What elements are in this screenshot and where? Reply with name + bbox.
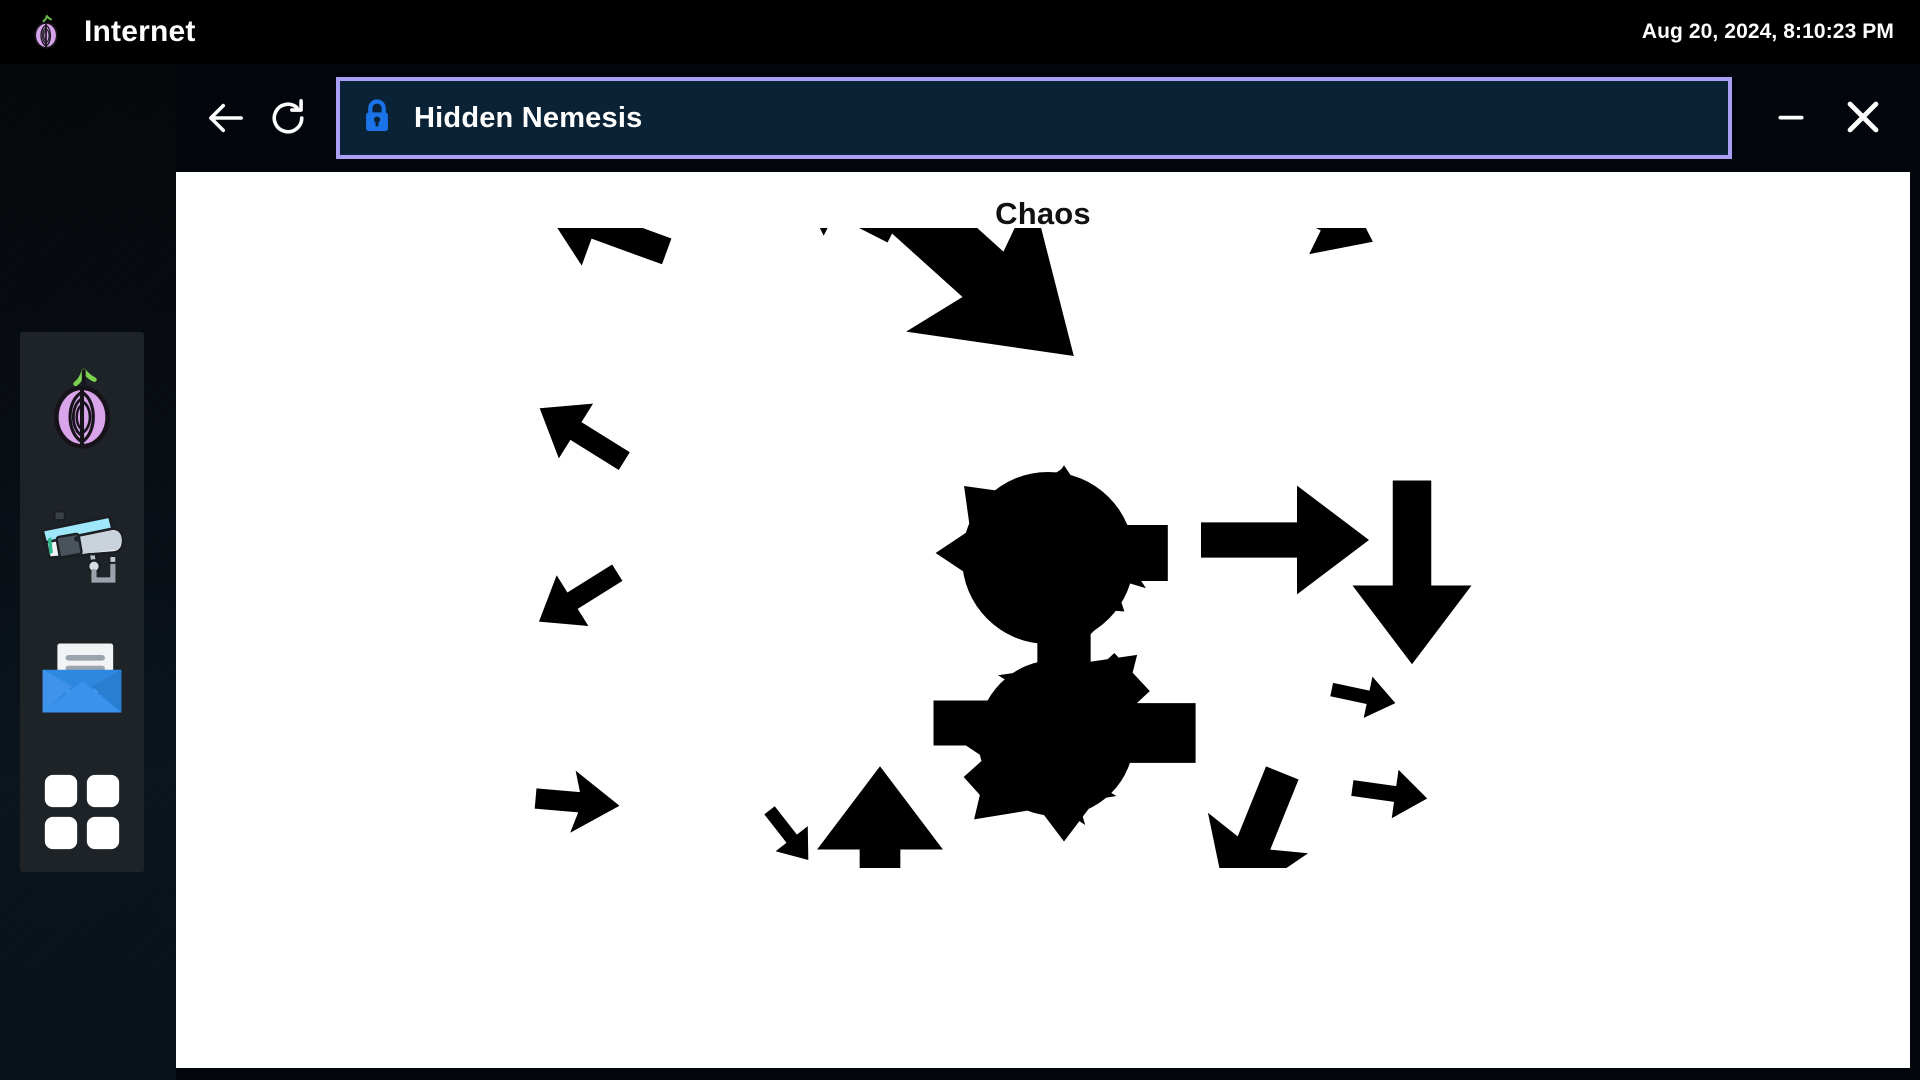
arrow-glyph (1349, 764, 1431, 823)
arrow-glyph (1327, 669, 1399, 724)
arrow-glyph (1247, 228, 1390, 277)
page-title: Chaos (176, 196, 1910, 232)
system-topbar: Internet Aug 20, 2024, 8:10:23 PM (0, 0, 1920, 64)
arrow-glyph (822, 228, 1136, 426)
dock-item-tor-browser[interactable] (29, 354, 135, 466)
arrow-glyph (523, 547, 633, 647)
arrow-glyph (523, 381, 642, 489)
onion-icon (26, 12, 66, 52)
arrow-glyph (1201, 486, 1369, 595)
arrow-glyph (533, 767, 622, 837)
page-canvas: Chaos (176, 172, 1910, 1068)
back-arrow-icon (204, 96, 248, 140)
address-bar[interactable]: Hidden Nemesis (336, 77, 1732, 159)
page-viewport: Chaos (176, 172, 1920, 1080)
system-clock: Aug 20, 2024, 8:10:23 PM (1642, 20, 1920, 44)
dock-item-surveillance-camera[interactable] (29, 488, 135, 600)
browser-toolbar: Hidden Nemesis (176, 64, 1920, 172)
minimize-button[interactable] (1758, 85, 1824, 151)
desktop-root: Internet Aug 20, 2024, 8:10:23 PM (0, 0, 1920, 1080)
back-button[interactable] (200, 92, 252, 144)
arrow-glyph (1353, 481, 1472, 665)
arrow-glyph (817, 766, 943, 868)
lock-icon (362, 98, 392, 139)
topbar-left-group: Internet (0, 12, 196, 52)
grid-icon (40, 770, 124, 854)
security-camera-icon (34, 501, 130, 587)
arrow-glyph (753, 798, 824, 868)
close-button[interactable] (1830, 85, 1896, 151)
browser-window: Hidden Nemesis Chaos (176, 64, 1920, 1080)
minimize-icon (1771, 97, 1811, 140)
address-bar-text: Hidden Nemesis (414, 102, 642, 135)
close-icon (1840, 94, 1886, 143)
arrow-glyph (529, 228, 681, 291)
dock-panel (20, 332, 144, 872)
dock-rail (0, 64, 176, 1080)
arrow-glyph (784, 228, 908, 263)
arrow-glyph (1178, 753, 1333, 868)
envelope-icon (36, 637, 128, 719)
reload-button[interactable] (262, 92, 314, 144)
dock-item-app-grid[interactable] (29, 756, 135, 868)
reload-icon (266, 96, 310, 140)
chaos-arrow-figure (176, 228, 1910, 868)
onion-icon (39, 364, 125, 456)
app-title: Internet (84, 17, 196, 47)
dock-item-mail[interactable] (29, 622, 135, 734)
